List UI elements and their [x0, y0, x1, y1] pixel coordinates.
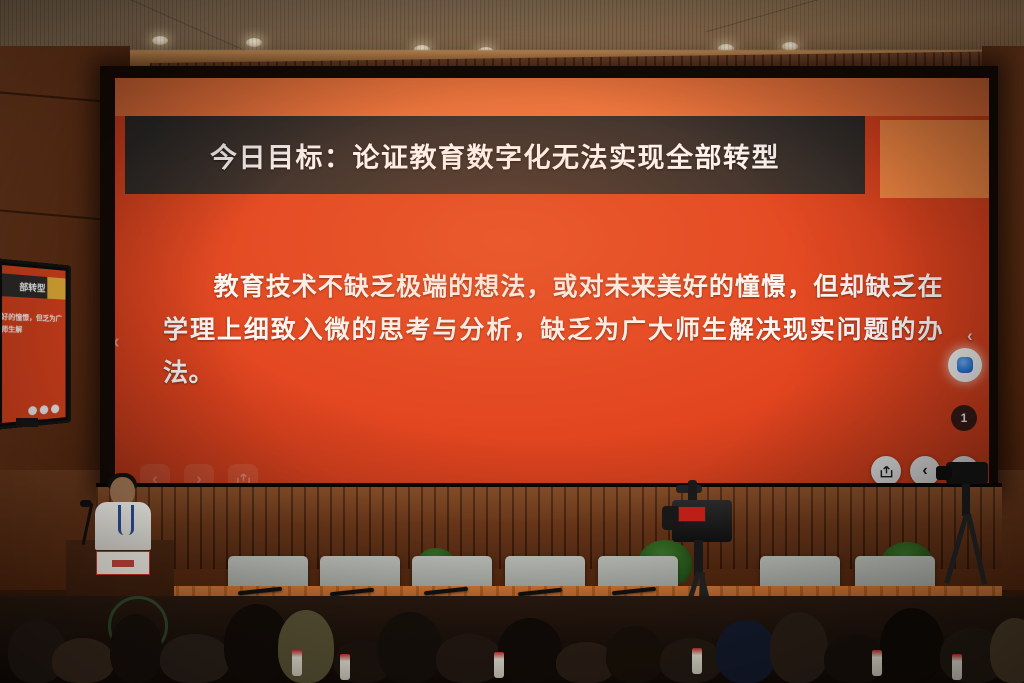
monitor-title-fragment: 部转型 [2, 272, 47, 299]
share-button[interactable] [871, 456, 901, 483]
laser-pointer-button[interactable] [948, 348, 982, 382]
audience-head [160, 634, 230, 683]
slide-accent-block [880, 120, 989, 198]
second-camera-body [946, 462, 988, 484]
monitor-accent-block [47, 277, 65, 300]
slide-page-badge: 1 [951, 405, 977, 431]
water-bottle [692, 648, 702, 674]
ghost-share-button[interactable] [228, 464, 258, 483]
audience-head [770, 612, 828, 683]
ghost-control-row: ‹ › [140, 464, 258, 483]
monitor-button[interactable] [40, 405, 48, 415]
monitor-stand [16, 418, 38, 427]
monitor-control-row [28, 404, 59, 415]
water-bottle [872, 650, 882, 676]
screen-edge-prev-icon[interactable]: ‹ [115, 331, 120, 354]
camera-preview-screen [678, 506, 706, 522]
slide-title: 今日目标：论证教育数字化无法实现全部转型 [210, 136, 780, 175]
camera-shotgun-mic [688, 480, 697, 502]
share-icon [236, 472, 251, 484]
audience-head [378, 612, 442, 683]
laser-pointer-icon [957, 357, 973, 373]
audience-head [498, 618, 562, 683]
water-bottle [952, 654, 962, 680]
audience-head [436, 634, 502, 683]
audience-head [880, 608, 944, 683]
confidence-monitor: 部转型 美好的憧憬，但乏为广大师生解 [0, 258, 71, 430]
audience-head [660, 638, 722, 683]
monitor-button[interactable] [51, 404, 59, 413]
projection-screen: 今日目标：论证教育数字化无法实现全部转型 教育技术不缺乏极端的想法，或对未来美好… [115, 78, 989, 483]
nameplate-text-mark [112, 560, 134, 567]
share-icon [879, 464, 894, 479]
second-camera-lens [936, 466, 952, 480]
water-bottle [494, 652, 504, 678]
second-camera-column [962, 484, 970, 516]
presenter-lanyard [118, 505, 134, 535]
auditorium-scene: 今日目标：论证教育数字化无法实现全部转型 教育技术不缺乏极端的想法，或对未来美好… [0, 0, 1024, 683]
ceiling-seam [0, 0, 247, 52]
ceiling-spotlight [246, 38, 262, 47]
audience-head [110, 614, 162, 683]
audience-head [716, 620, 776, 683]
audience-head [606, 626, 664, 683]
slide-body-content: 教育技术不缺乏极端的想法，或对未来美好的憧憬，但却缺乏在学理上细致入微的思考与分… [163, 274, 943, 387]
ghost-next-button[interactable]: › [184, 464, 214, 483]
slide-body-text: 教育技术不缺乏极端的想法，或对未来美好的憧憬，但却缺乏在学理上细致入微的思考与分… [163, 266, 943, 395]
audience-head [278, 610, 334, 683]
audience-head [52, 638, 114, 683]
water-bottle [340, 654, 350, 680]
ceiling-spotlight [152, 36, 168, 45]
confidence-monitor-screen: 部转型 美好的憧憬，但乏为广大师生解 [2, 265, 66, 423]
monitor-button[interactable] [28, 406, 37, 416]
podium-microphone-head [80, 500, 92, 507]
ceiling-seam [706, 0, 995, 32]
slide-title-bar: 今日目标：论证教育数字化无法实现全部转型 [125, 116, 865, 194]
ghost-prev-button[interactable]: ‹ [140, 464, 170, 483]
presenter-nameplate [96, 551, 150, 575]
screen-right-prev-icon[interactable]: ‹ [967, 326, 973, 346]
monitor-body-fragment: 美好的憧憬，但乏为广大师生解 [2, 310, 66, 336]
slide-top-band [115, 78, 989, 116]
water-bottle [292, 650, 302, 676]
